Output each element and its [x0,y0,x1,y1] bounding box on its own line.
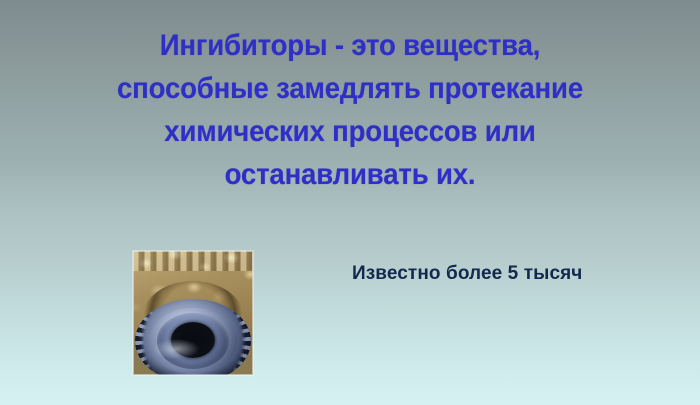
headline-line-3: химических процессов или [28,110,672,153]
headline-text: Ингибиторы - это вещества, способные зам… [28,24,672,196]
steel-gear [135,299,251,375]
caption-text: Известно более 5 тысяч [352,262,610,285]
headline-line-1: Ингибиторы - это вещества, [28,24,672,67]
gear-photo [133,251,253,375]
headline-line-2: способные замедлять протекание [28,67,672,110]
headline-line-4: останавливать их. [28,153,672,196]
presentation-slide: Ингибиторы - это вещества, способные зам… [0,0,700,405]
brass-gear-teeth [133,251,253,271]
steel-gear-highlight [153,339,199,359]
